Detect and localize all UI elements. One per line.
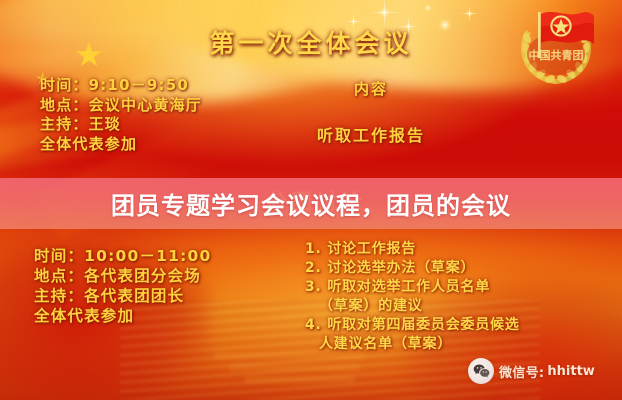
wechat-handle: hhittw [547,364,594,379]
session2-location: 地点：各代表团分会场 [34,266,211,286]
session2-time: 时间：10:00－11:00 [34,246,211,266]
agenda-item: 4. 听取对第四届委员会委员候选 [305,316,520,335]
session2-agenda-list: 1. 讨论工作报告 2. 讨论选举办法（草案） 3. 听取对选举工作人员名单 （… [305,240,520,354]
session1-agenda-item: 听取工作报告 [0,122,622,146]
sparkle-icon [424,4,432,12]
overlay-title-banner: 团员专题学习会议议程，团员的会议 [0,178,622,229]
agenda-item: 1. 讨论工作报告 [305,240,520,259]
poster-image: 中国共青团 第一次全体会议 时间：9:10－9:50 地点：会议中心黄海厅 主持… [0,0,622,400]
overlay-headline: 团员专题学习会议议程，团员的会议 [111,186,511,221]
wechat-icon [468,358,494,384]
stair-texture [230,364,360,371]
agenda-item: 人建议名单（草案） [305,335,520,354]
page-title: 第一次全体会议 [0,24,622,60]
stair-texture [245,376,355,383]
agenda-item: （草案）的建议 [305,297,520,316]
session2-details: 时间：10:00－11:00 地点：各代表团分会场 主持：各代表团团长 全体代表… [34,246,211,327]
sparkle-icon [466,10,473,17]
session2-host: 主持：各代表团团长 [34,286,211,306]
session2-attendees: 全体代表参加 [34,306,211,326]
agenda-item: 3. 听取对选举工作人员名单 [305,278,520,297]
wechat-label: 微信号: [499,362,544,381]
session1-agenda-heading: 内容 [0,78,622,99]
wechat-watermark: 微信号: hhittw [468,358,595,384]
sparkle-icon [378,6,391,19]
agenda-item: 2. 讨论选举办法（草案） [305,259,520,278]
